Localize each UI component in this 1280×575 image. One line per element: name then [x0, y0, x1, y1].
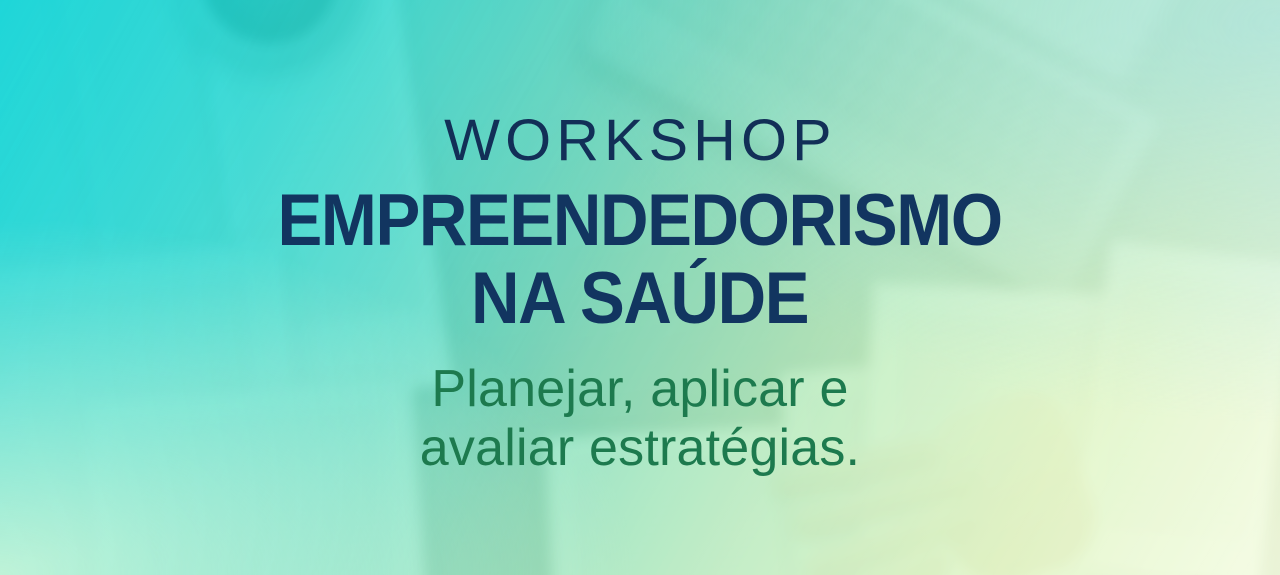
page-title: EMPREENDEDORISMO NA SAÚDE	[246, 170, 1033, 334]
banner-content: WORKSHOP EMPREENDEDORISMO NA SAÚDE Plane…	[0, 0, 1280, 575]
subtitle-line-1: Planejar, aplicar e	[420, 360, 860, 419]
headline-line-1: EMPREENDEDORISMO	[278, 186, 1002, 256]
headline-line-2: NA SAÚDE	[278, 264, 1002, 334]
workshop-promo-banner: WORKSHOP EMPREENDEDORISMO NA SAÚDE Plane…	[0, 0, 1280, 575]
subtitle-line-2: avaliar estratégias.	[420, 419, 860, 478]
kicker-text: WORKSHOP	[444, 112, 837, 170]
subtitle: Planejar, aplicar e avaliar estratégias.	[420, 360, 860, 478]
